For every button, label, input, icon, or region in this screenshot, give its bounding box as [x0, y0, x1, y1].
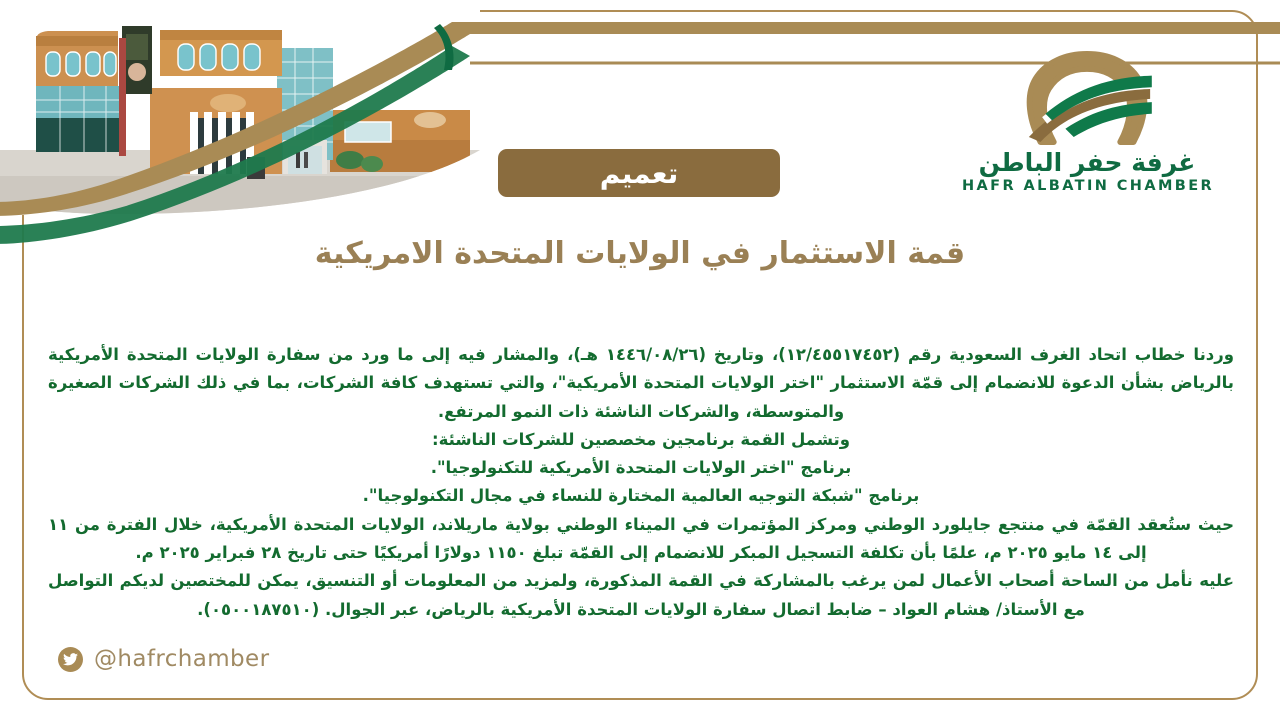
social-footer[interactable]: @hafrchamber [58, 646, 269, 672]
twitter-handle[interactable]: @hafrchamber [94, 646, 269, 672]
circular-badge: تعميم [498, 149, 780, 197]
body-paragraph-5: حيث ستُعقد القمّة في منتجع جايلورد الوطن… [48, 511, 1234, 568]
page-title: قمة الاستثمار في الولايات المتحدة الامري… [0, 236, 1280, 271]
twitter-icon[interactable] [58, 647, 83, 672]
building-photo [0, 0, 490, 220]
body-paragraph-6: عليه نأمل من الساحة أصحاب الأعمال لمن ير… [48, 567, 1234, 624]
chamber-logo-mark [1003, 44, 1171, 152]
body-paragraph-4: برنامج "شبكة التوجيه العالمية المختارة ل… [48, 482, 1234, 510]
circular-poster: غرفة حفر الباطن HAFR ALBATIN CHAMBER تعم… [0, 0, 1280, 720]
announcement-body: وردنا خطاب اتحاد الغرف السعودية رقم (١٢/… [48, 341, 1234, 624]
body-paragraph-3: برنامج "اختر الولايات المتحدة الأمريكية … [48, 454, 1234, 482]
chamber-logo: غرفة حفر الباطن HAFR ALBATIN CHAMBER [962, 44, 1212, 212]
chamber-logo-arabic: غرفة حفر الباطن [962, 148, 1212, 177]
chamber-logo-english: HAFR ALBATIN CHAMBER [962, 178, 1212, 194]
body-paragraph-1: وردنا خطاب اتحاد الغرف السعودية رقم (١٢/… [48, 341, 1234, 426]
body-paragraph-2: وتشمل القمة برنامجين مخصصين للشركات النا… [48, 426, 1234, 454]
